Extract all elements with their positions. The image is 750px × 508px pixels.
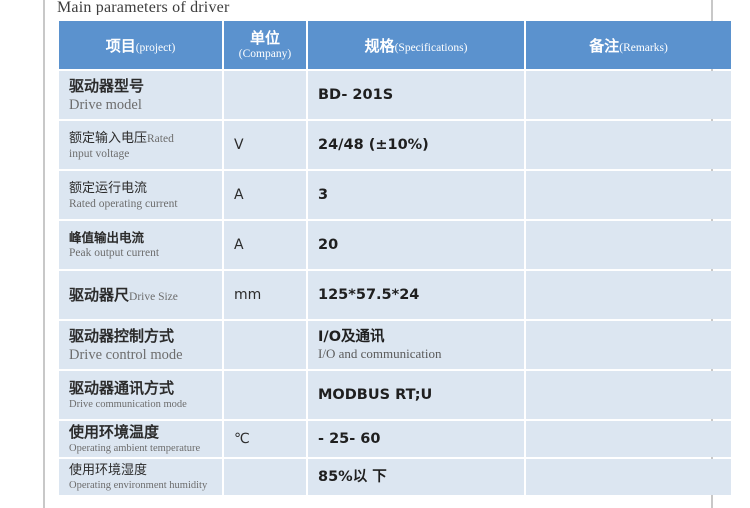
cell-project: 驱动器尺Drive Size [59, 271, 222, 319]
column-header-unit-cn: 单位 [228, 29, 302, 47]
cell-remarks [526, 221, 731, 269]
spec-section: Main parameters of driver 项目(project) 单位… [57, 0, 703, 497]
specification-value: 3 [318, 186, 514, 204]
cell-project: 驱动器控制方式 Drive control mode [59, 321, 222, 369]
project-cn: 驱动器通讯方式 [69, 379, 212, 398]
project-cn: 使用环境温度 [69, 423, 212, 442]
cell-remarks [526, 371, 731, 419]
project-en: Operating ambient temperature [69, 442, 212, 455]
project-cn: 额定运行电流 [69, 180, 212, 197]
table-row: 额定运行电流 Rated operating current A 3 [59, 171, 731, 219]
project-en: Drive model [69, 96, 212, 114]
cell-remarks [526, 121, 731, 169]
column-header-remarks-cn: 备注 [589, 37, 619, 55]
cell-specification: 125*57.5*24 [308, 271, 524, 319]
table-row: 使用环境温度 Operating ambient temperature ℃ -… [59, 421, 731, 457]
column-header-specifications: 规格(Specifications) [308, 21, 524, 69]
column-header-unit: 单位 (Company) [224, 21, 306, 69]
column-header-project: 项目(project) [59, 21, 222, 69]
cell-remarks [526, 421, 731, 457]
cell-remarks [526, 459, 731, 495]
table-row: 峰值输出电流 Peak output current A 20 [59, 221, 731, 269]
cell-unit [224, 371, 306, 419]
project-cn: 使用环境湿度 [69, 462, 212, 479]
table-header-row: 项目(project) 单位 (Company) 规格(Specificatio… [59, 21, 731, 69]
specification-value: 125*57.5*24 [318, 286, 514, 304]
project-en: Peak output current [69, 246, 212, 260]
project-cn: 峰值输出电流 [69, 230, 212, 246]
cell-specification: - 25- 60 [308, 421, 524, 457]
cell-specification: 24/48 (±10%) [308, 121, 524, 169]
cell-unit [224, 459, 306, 495]
specification-value-en: I/O and communication [318, 346, 514, 362]
cell-unit [224, 321, 306, 369]
cell-specification: MODBUS RT;U [308, 371, 524, 419]
table-row: 使用环境湿度 Operating environment humidity 85… [59, 459, 731, 495]
cell-unit: ℃ [224, 421, 306, 457]
project-cn: 驱动器尺 [69, 286, 129, 304]
page-left-rule [43, 0, 45, 508]
cell-unit: A [224, 171, 306, 219]
cell-project: 使用环境湿度 Operating environment humidity [59, 459, 222, 495]
cell-unit [224, 71, 306, 119]
driver-parameters-table: 项目(project) 单位 (Company) 规格(Specificatio… [57, 19, 733, 497]
column-header-specifications-cn: 规格 [365, 37, 395, 55]
project-en: Drive communication mode [69, 398, 212, 411]
cell-specification: BD- 201S [308, 71, 524, 119]
column-header-specifications-en: (Specifications) [395, 42, 468, 54]
project-cn: 驱动器控制方式 [69, 327, 212, 346]
cell-unit: mm [224, 271, 306, 319]
cell-remarks [526, 171, 731, 219]
project-en: Operating environment humidity [69, 479, 212, 492]
project-en: Drive control mode [69, 346, 212, 364]
cell-unit: A [224, 221, 306, 269]
cell-project: 驱动器型号 Drive model [59, 71, 222, 119]
specification-value: 24/48 (±10%) [318, 136, 514, 154]
project-en: input voltage [69, 147, 212, 161]
table-row: 驱动器通讯方式 Drive communication mode MODBUS … [59, 371, 731, 419]
column-header-remarks: 备注(Remarks) [526, 21, 731, 69]
project-en: Rated operating current [69, 197, 212, 211]
specification-value: - 25- 60 [318, 430, 514, 448]
column-header-project-en: (project) [136, 42, 176, 54]
cell-remarks [526, 71, 731, 119]
cell-remarks [526, 321, 731, 369]
specification-value: 85%以 下 [318, 468, 514, 486]
specification-value: MODBUS RT;U [318, 386, 514, 404]
cell-project: 额定输入电压Rated input voltage [59, 121, 222, 169]
cell-specification: I/O及通讯 I/O and communication [308, 321, 524, 369]
cell-project: 峰值输出电流 Peak output current [59, 221, 222, 269]
column-header-unit-en: (Company) [228, 47, 302, 62]
column-header-project-cn: 项目 [106, 37, 136, 55]
cell-project: 使用环境温度 Operating ambient temperature [59, 421, 222, 457]
cell-remarks [526, 271, 731, 319]
cell-project: 额定运行电流 Rated operating current [59, 171, 222, 219]
specification-value: I/O及通讯 [318, 328, 514, 346]
table-row: 额定输入电压Rated input voltage V 24/48 (±10%) [59, 121, 731, 169]
specification-value: 20 [318, 236, 514, 254]
cell-specification: 85%以 下 [308, 459, 524, 495]
project-en: Drive Size [129, 291, 178, 303]
cell-specification: 3 [308, 171, 524, 219]
cell-unit: V [224, 121, 306, 169]
table-row: 驱动器控制方式 Drive control mode I/O及通讯 I/O an… [59, 321, 731, 369]
table-row: 驱动器型号 Drive model BD- 201S [59, 71, 731, 119]
table-row: 驱动器尺Drive Size mm 125*57.5*24 [59, 271, 731, 319]
cell-specification: 20 [308, 221, 524, 269]
project-en-inline: Rated [147, 133, 174, 145]
specification-value: BD- 201S [318, 86, 514, 104]
project-cn: 驱动器型号 [69, 77, 212, 96]
column-header-remarks-en: (Remarks) [619, 42, 668, 54]
cell-project: 驱动器通讯方式 Drive communication mode [59, 371, 222, 419]
page-title: Main parameters of driver [57, 0, 703, 15]
project-cn: 额定输入电压 [69, 131, 147, 146]
